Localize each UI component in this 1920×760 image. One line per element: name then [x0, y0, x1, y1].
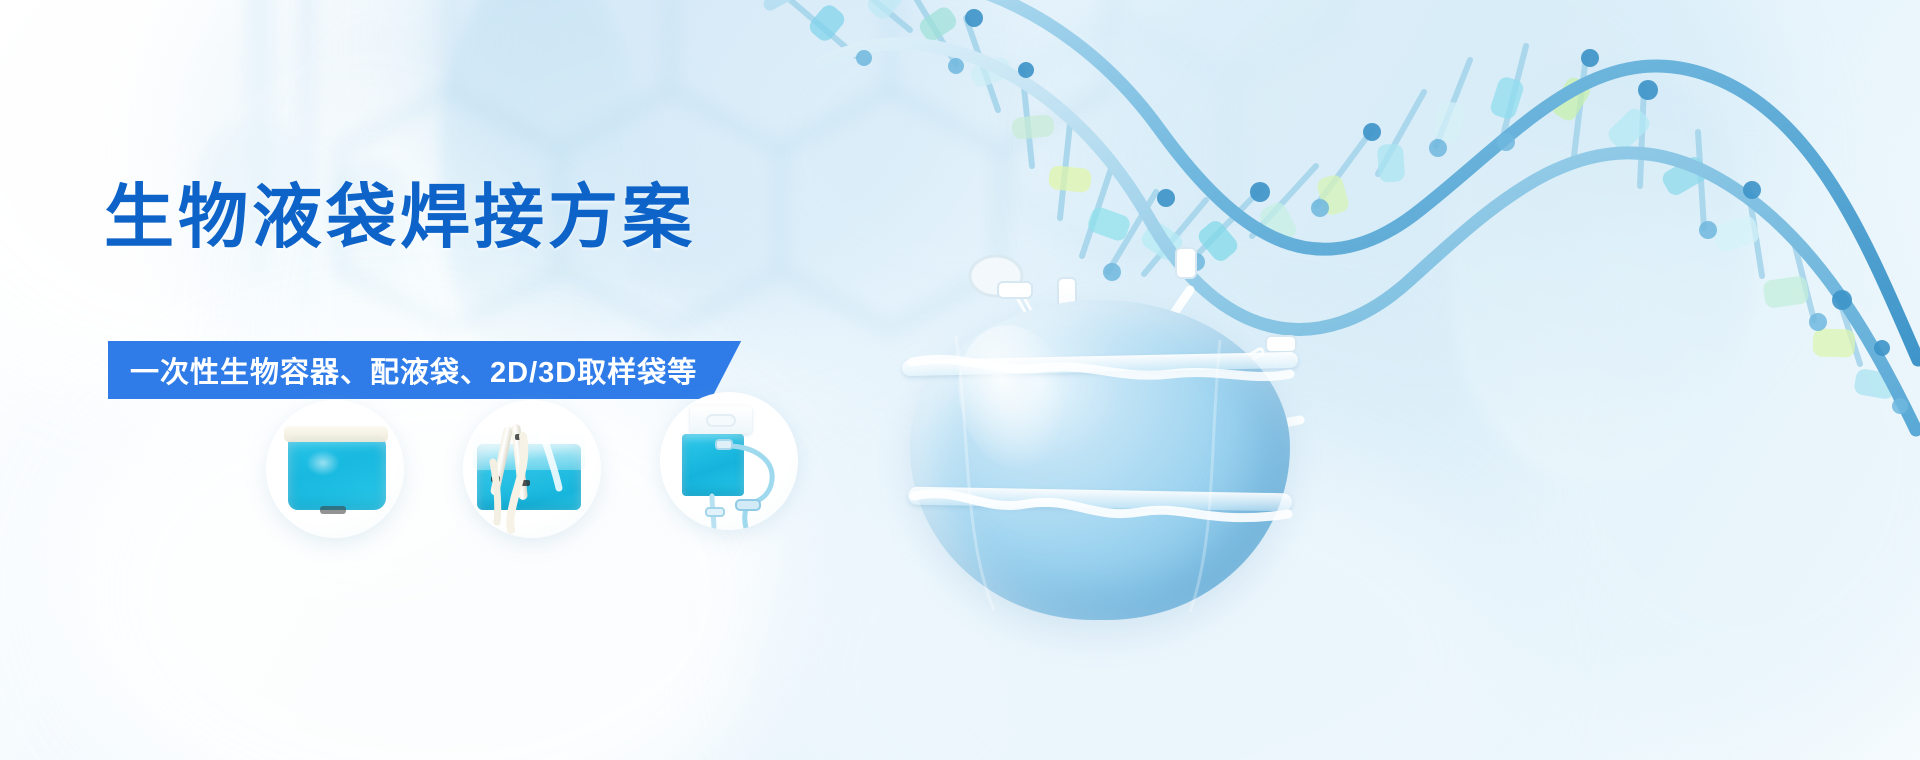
product-thumbnail-3d-cube-bag[interactable]: [463, 400, 601, 538]
subtitle-text: 一次性生物容器、配液袋、2D/3D取样袋等: [130, 349, 697, 391]
subtitle-banner: 一次性生物容器、配液袋、2D/3D取样袋等: [108, 341, 741, 399]
page-title: 生物液袋焊接方案: [104, 182, 696, 252]
hero-banner: 生物液袋焊接方案 一次性生物容器、配液袋、2D/3D取样袋等: [0, 0, 1920, 760]
product-thumbnail-sampling-bag[interactable]: [660, 392, 798, 530]
product-thumbnail-2d-pillow-bag[interactable]: [266, 400, 404, 538]
product-thumbnail-row: [266, 392, 826, 552]
bioprocess-bag-illustration: [890, 290, 1310, 630]
